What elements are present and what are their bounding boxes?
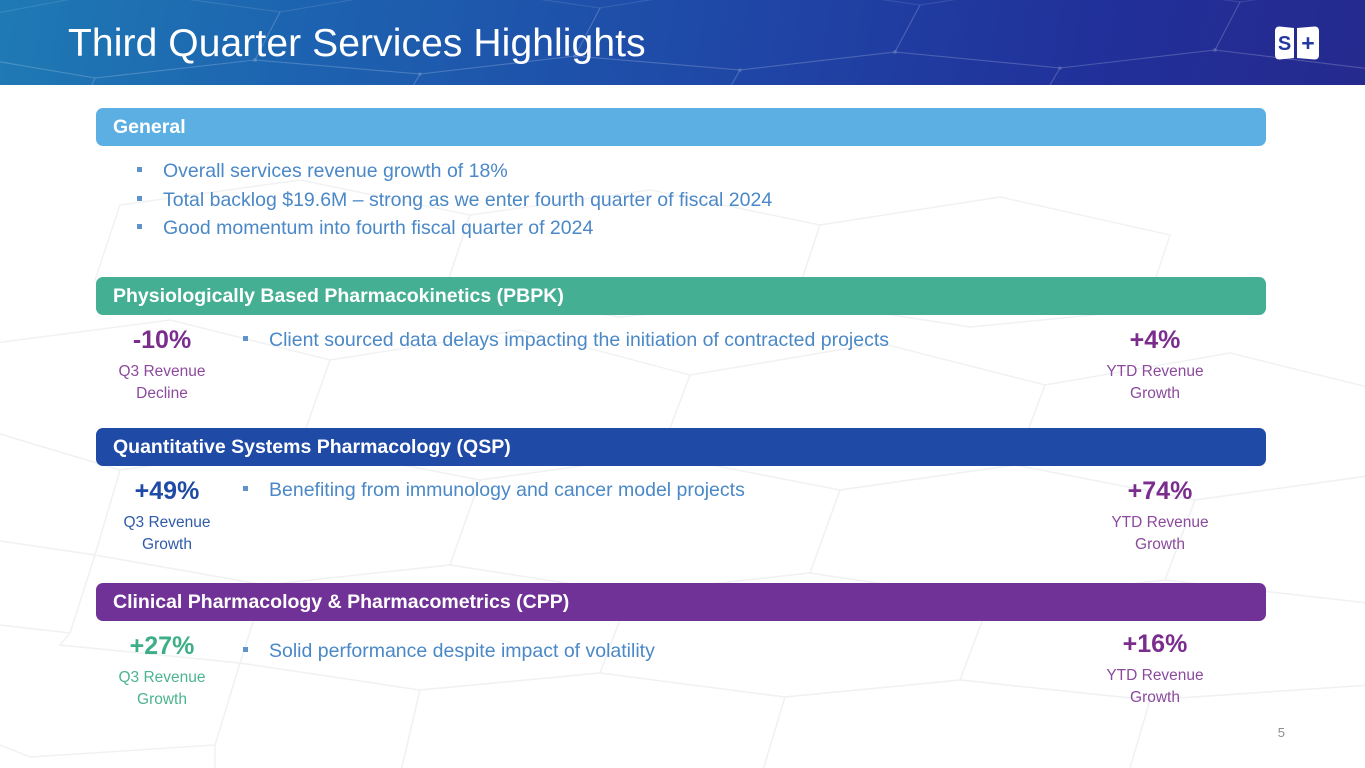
list-item: Solid performance despite impact of vola… bbox=[243, 637, 655, 666]
section-title-cpp: Clinical Pharmacology & Pharmacometrics … bbox=[96, 591, 569, 614]
bullet-list-cpp: Solid performance despite impact of vola… bbox=[243, 637, 655, 666]
bullet-text: Client sourced data delays impacting the… bbox=[269, 326, 889, 355]
bullet-text: Total backlog $19.6M – strong as we ente… bbox=[163, 186, 772, 215]
metric-value: -10% bbox=[57, 325, 267, 355]
bullet-square-icon bbox=[137, 224, 142, 229]
metric-value: +16% bbox=[1050, 629, 1260, 659]
list-item: Client sourced data delays impacting the… bbox=[243, 326, 889, 355]
bullet-list-qsp: Benefiting from immunology and cancer mo… bbox=[243, 476, 745, 505]
list-item: Good momentum into fourth fiscal quarter… bbox=[137, 214, 772, 243]
section-title-qsp: Quantitative Systems Pharmacology (QSP) bbox=[96, 436, 511, 459]
svg-text:+: + bbox=[1301, 30, 1314, 56]
metric-value: +4% bbox=[1050, 325, 1260, 355]
metric-cpp-q3: +27% Q3 Revenue Growth bbox=[57, 631, 267, 711]
metric-cpp-ytd: +16% YTD Revenue Growth bbox=[1050, 629, 1260, 709]
slide-header: Third Quarter Services Highlights S + bbox=[0, 0, 1365, 85]
metric-label: YTD Revenue Growth bbox=[1050, 665, 1260, 709]
bullet-square-icon bbox=[243, 647, 248, 652]
bullet-text: Good momentum into fourth fiscal quarter… bbox=[163, 214, 593, 243]
metric-pbpk-ytd: +4% YTD Revenue Growth bbox=[1050, 325, 1260, 405]
section-bar-qsp: Quantitative Systems Pharmacology (QSP) bbox=[96, 428, 1266, 466]
metric-value: +74% bbox=[1055, 476, 1265, 506]
bullet-text: Benefiting from immunology and cancer mo… bbox=[269, 476, 745, 505]
list-item: Total backlog $19.6M – strong as we ente… bbox=[137, 186, 772, 215]
metric-pbpk-q3: -10% Q3 Revenue Decline bbox=[57, 325, 267, 405]
metric-label: YTD Revenue Growth bbox=[1055, 512, 1265, 556]
metric-value: +27% bbox=[57, 631, 267, 661]
metric-value: +49% bbox=[62, 476, 272, 506]
metric-label: Q3 Revenue Growth bbox=[62, 512, 272, 556]
page-title: Third Quarter Services Highlights bbox=[68, 22, 646, 66]
section-bar-cpp: Clinical Pharmacology & Pharmacometrics … bbox=[96, 583, 1266, 621]
list-item: Benefiting from immunology and cancer mo… bbox=[243, 476, 745, 505]
section-bar-general: General bbox=[96, 108, 1266, 146]
svg-text:S: S bbox=[1278, 33, 1291, 55]
metric-label: Q3 Revenue Decline bbox=[57, 361, 267, 405]
bullet-list-general: Overall services revenue growth of 18% T… bbox=[137, 157, 772, 243]
slide: Third Quarter Services Highlights S + Ge… bbox=[0, 0, 1365, 768]
bullet-square-icon bbox=[243, 336, 248, 341]
page-number: 5 bbox=[1278, 725, 1285, 740]
bullet-square-icon bbox=[137, 196, 142, 201]
bullet-square-icon bbox=[137, 167, 142, 172]
list-item: Overall services revenue growth of 18% bbox=[137, 157, 772, 186]
bullet-list-pbpk: Client sourced data delays impacting the… bbox=[243, 326, 889, 355]
section-title-pbpk: Physiologically Based Pharmacokinetics (… bbox=[96, 285, 564, 308]
metric-label: Q3 Revenue Growth bbox=[57, 667, 267, 711]
section-title-general: General bbox=[96, 116, 186, 139]
bullet-text: Solid performance despite impact of vola… bbox=[269, 637, 655, 666]
section-bar-pbpk: Physiologically Based Pharmacokinetics (… bbox=[96, 277, 1266, 315]
metric-qsp-ytd: +74% YTD Revenue Growth bbox=[1055, 476, 1265, 556]
metric-label: YTD Revenue Growth bbox=[1050, 361, 1260, 405]
metric-qsp-q3: +49% Q3 Revenue Growth bbox=[62, 476, 272, 556]
bullet-text: Overall services revenue growth of 18% bbox=[163, 157, 508, 186]
simulations-plus-logo-icon: S + bbox=[1272, 24, 1322, 62]
bullet-square-icon bbox=[243, 486, 248, 491]
